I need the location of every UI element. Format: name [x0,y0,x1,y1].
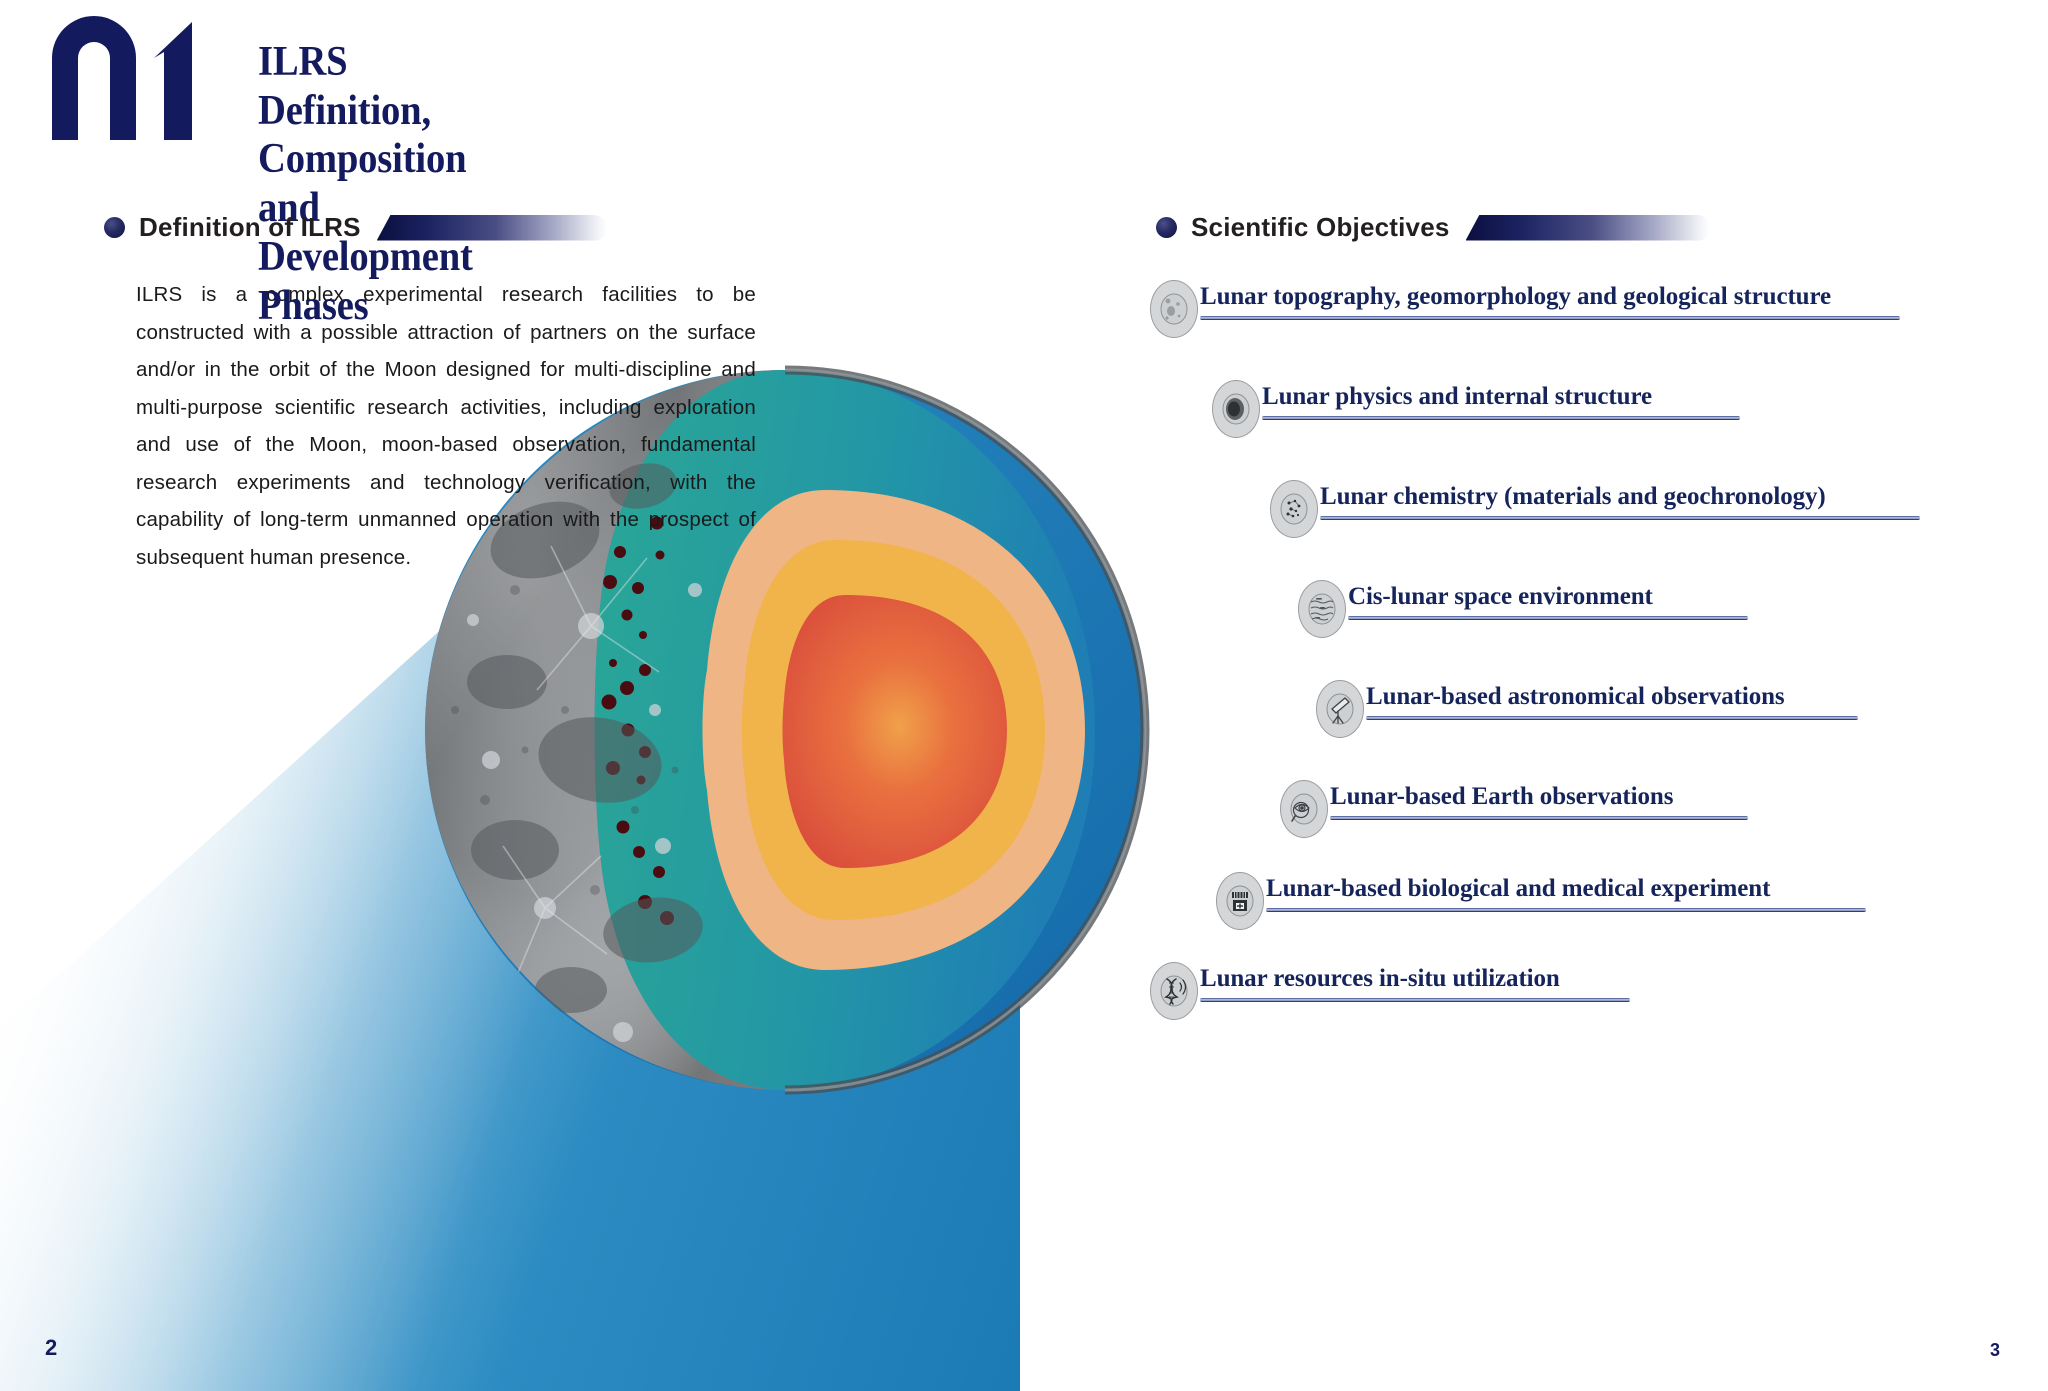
molecules-icon [1270,480,1318,538]
telescope-icon [1316,680,1364,738]
eye-magnifier-icon [1280,780,1328,838]
objective-underline [1200,998,1630,1002]
objective-item[interactable]: Lunar physics and internal structure [1212,380,1740,438]
definition-gradient-bar [377,215,607,241]
objective-label: Lunar physics and internal structure [1262,383,1652,410]
objective-underline [1266,908,1866,912]
slide-page: ILRS Definition, Composition and Develop… [0,0,2048,1391]
definition-heading-label: Definition of ILRS [139,212,361,243]
objective-item[interactable]: Lunar-based biological and medical exper… [1216,872,1866,930]
objective-label: Lunar topography, geomorphology and geol… [1200,283,1831,310]
page-title: ILRS Definition, Composition and Develop… [258,38,473,330]
definition-section-header: Definition of ILRS [104,212,607,243]
objective-underline [1262,416,1740,420]
objective-item[interactable]: Lunar topography, geomorphology and geol… [1150,280,1900,338]
objective-underline [1320,516,1920,520]
objective-label: Lunar-based biological and medical exper… [1266,875,1770,902]
filled-circle-bullet-icon [104,217,125,238]
objective-label: Lunar chemistry (materials and geochrono… [1320,483,1826,510]
page-number-left: 2 [45,1335,57,1361]
filled-circle-bullet-icon [1156,217,1177,238]
space-waves-icon [1298,580,1346,638]
objectives-gradient-bar [1466,215,1710,241]
objective-underline [1200,316,1900,320]
objective-item[interactable]: Lunar-based astronomical observations [1316,680,1858,738]
objective-label: Lunar resources in-situ utilization [1200,965,1560,992]
objectives-section-header: Scientific Objectives [1156,212,1710,243]
objective-underline [1366,716,1858,720]
objective-label: Lunar-based Earth observations [1330,783,1673,810]
objective-label: Lunar-based astronomical observations [1366,683,1785,710]
section-number-01 [42,14,212,142]
internal-structure-icon [1212,380,1260,438]
objective-item[interactable]: Lunar resources in-situ utilization [1150,962,1630,1020]
objective-item[interactable]: Lunar chemistry (materials and geochrono… [1270,480,1920,538]
page-number-right: 3 [1990,1340,2000,1361]
objective-item[interactable]: Cis-lunar space environment [1298,580,1748,638]
cratered-moon-icon [1150,280,1198,338]
objective-underline [1348,616,1748,620]
objectives-heading-label: Scientific Objectives [1191,212,1450,243]
objective-label: Cis-lunar space environment [1348,583,1653,610]
dna-helix-icon [1150,962,1198,1020]
objective-underline [1330,816,1748,820]
lab-incubator-icon [1216,872,1264,930]
objective-item[interactable]: Lunar-based Earth observations [1280,780,1748,838]
